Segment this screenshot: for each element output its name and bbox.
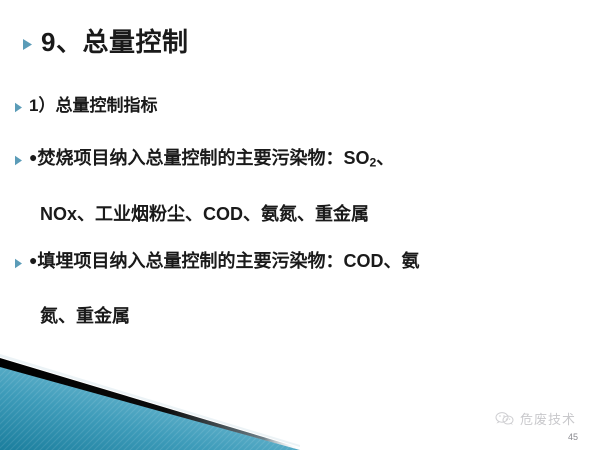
bullet-item-1: ●焚烧项目纳入总量控制的主要污染物：SO2、 [14,148,394,170]
page-title: 9、总量控制 [41,28,188,58]
wechat-icon-glyph [495,411,515,427]
triangle-bullet-icon [14,102,23,113]
bullet-item-2-text: 填埋项目纳入总量控制的主要污染物：COD、氨 [37,251,419,271]
page-number: 45 [568,432,578,442]
bullet-item-2-line-2: 氮、重金属 [40,302,130,328]
wechat-icon [495,411,515,427]
subheading-row: 1）总量控制指标 [14,96,157,116]
bullet-item-1-line-1: ●焚烧项目纳入总量控制的主要污染物：SO2、 [29,148,394,170]
presentation-slide: 9、总量控制 1）总量控制指标 ●焚烧项目纳入总量控制的主要污染物：SO2、 N… [0,0,600,450]
watermark-text: 危废技术 [520,409,576,428]
bullet-item-2: ●填埋项目纳入总量控制的主要污染物：COD、氨 [14,251,419,273]
bullet-item-1-text-after: 、 [376,148,394,168]
bullet-item-2-line-1: ●填埋项目纳入总量控制的主要污染物：COD、氨 [29,251,419,273]
triangle-bullet-icon [22,38,33,51]
bullet-item-1-text-before: 焚烧项目纳入总量控制的主要污染物：SO [37,148,369,168]
slide-title-row: 9、总量控制 [22,28,188,58]
watermark: 危废技术 [495,409,576,428]
triangle-bullet-icon [14,155,23,166]
subheading-text: 1）总量控制指标 [29,96,157,116]
bullet-item-1-line-2: NOx、工业烟粉尘、COD、氨氮、重金属 [40,200,369,226]
slide-content: 9、总量控制 1）总量控制指标 ●焚烧项目纳入总量控制的主要污染物：SO2、 N… [0,0,600,380]
triangle-bullet-icon [14,258,23,269]
